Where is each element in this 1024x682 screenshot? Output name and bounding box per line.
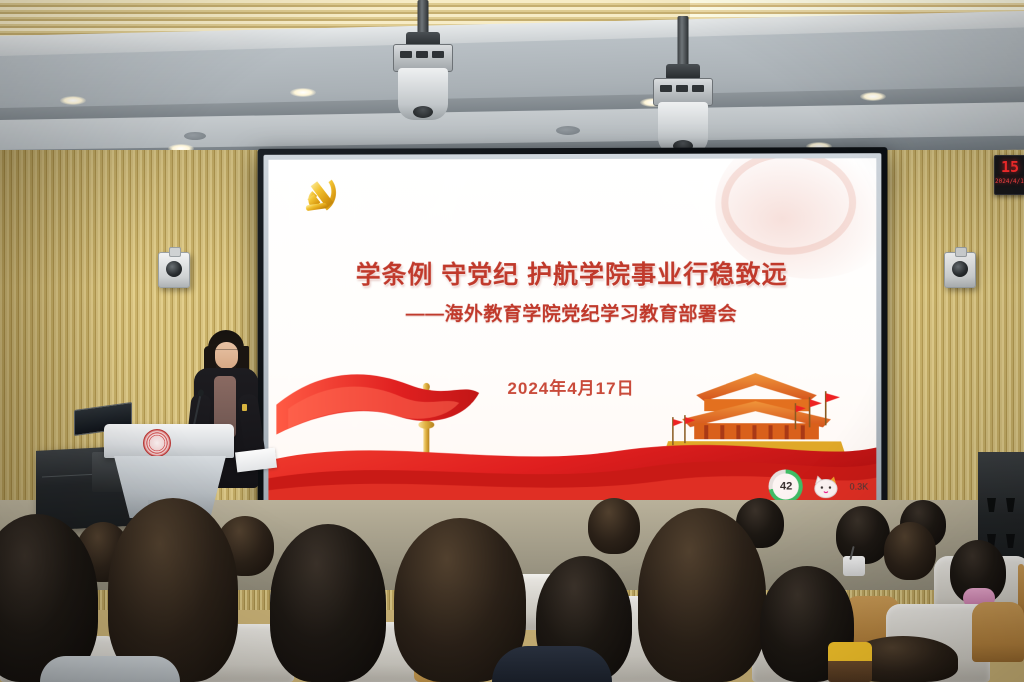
downlight	[290, 88, 316, 97]
ceiling-projector-right	[648, 16, 718, 146]
downlight	[60, 96, 86, 105]
audience-shoulders	[40, 656, 180, 682]
downlight	[860, 92, 886, 101]
led-clock-display: 15 2024/4/17	[994, 155, 1024, 195]
yellow-thermos	[828, 642, 872, 682]
progress-value: 42	[780, 480, 792, 492]
led-clock-sublabel: 2024/4/17	[995, 178, 1024, 185]
university-seal-emblem	[143, 429, 171, 457]
screen-surface: 学条例 守党纪 护航学院事业行稳致远 ——海外教育学院党纪学习教育部署会 202…	[268, 158, 876, 508]
audience-shoulders	[492, 646, 612, 682]
podium-top	[104, 424, 234, 458]
audience-head	[884, 522, 936, 580]
cpc-party-emblem	[296, 172, 348, 224]
slide-subtitle: ——海外教育学院党纪学习教育部署会	[268, 299, 876, 326]
conference-hall-photo: 15 2024/4/17	[0, 0, 1024, 682]
slide-title: 学条例 守党纪 护航学院事业行稳致远	[268, 255, 876, 292]
coffee-cup	[843, 556, 865, 576]
ceiling-vent	[184, 132, 206, 140]
stream-count: 0.3K	[850, 482, 869, 492]
seat[interactable]	[972, 602, 1024, 662]
led-clock-value: 15	[995, 158, 1024, 176]
ceiling-projector-left	[388, 0, 458, 120]
led-presentation-screen[interactable]: 学条例 守党纪 护航学院事业行稳致远 ——海外教育学院党纪学习教育部署会 202…	[258, 147, 888, 519]
presentation-slide: 学条例 守党纪 护航学院事业行稳致远 ——海外教育学院党纪学习教育部署会 202…	[268, 158, 876, 508]
wall-speaker-left	[158, 252, 190, 288]
audience-head-front	[638, 508, 766, 682]
ceiling-vent	[556, 126, 580, 135]
audience-head-front	[270, 524, 386, 682]
wall-speaker-right	[944, 252, 976, 288]
audience-head	[588, 498, 640, 554]
audience-area	[0, 496, 1024, 682]
audience-head-front	[108, 498, 238, 682]
